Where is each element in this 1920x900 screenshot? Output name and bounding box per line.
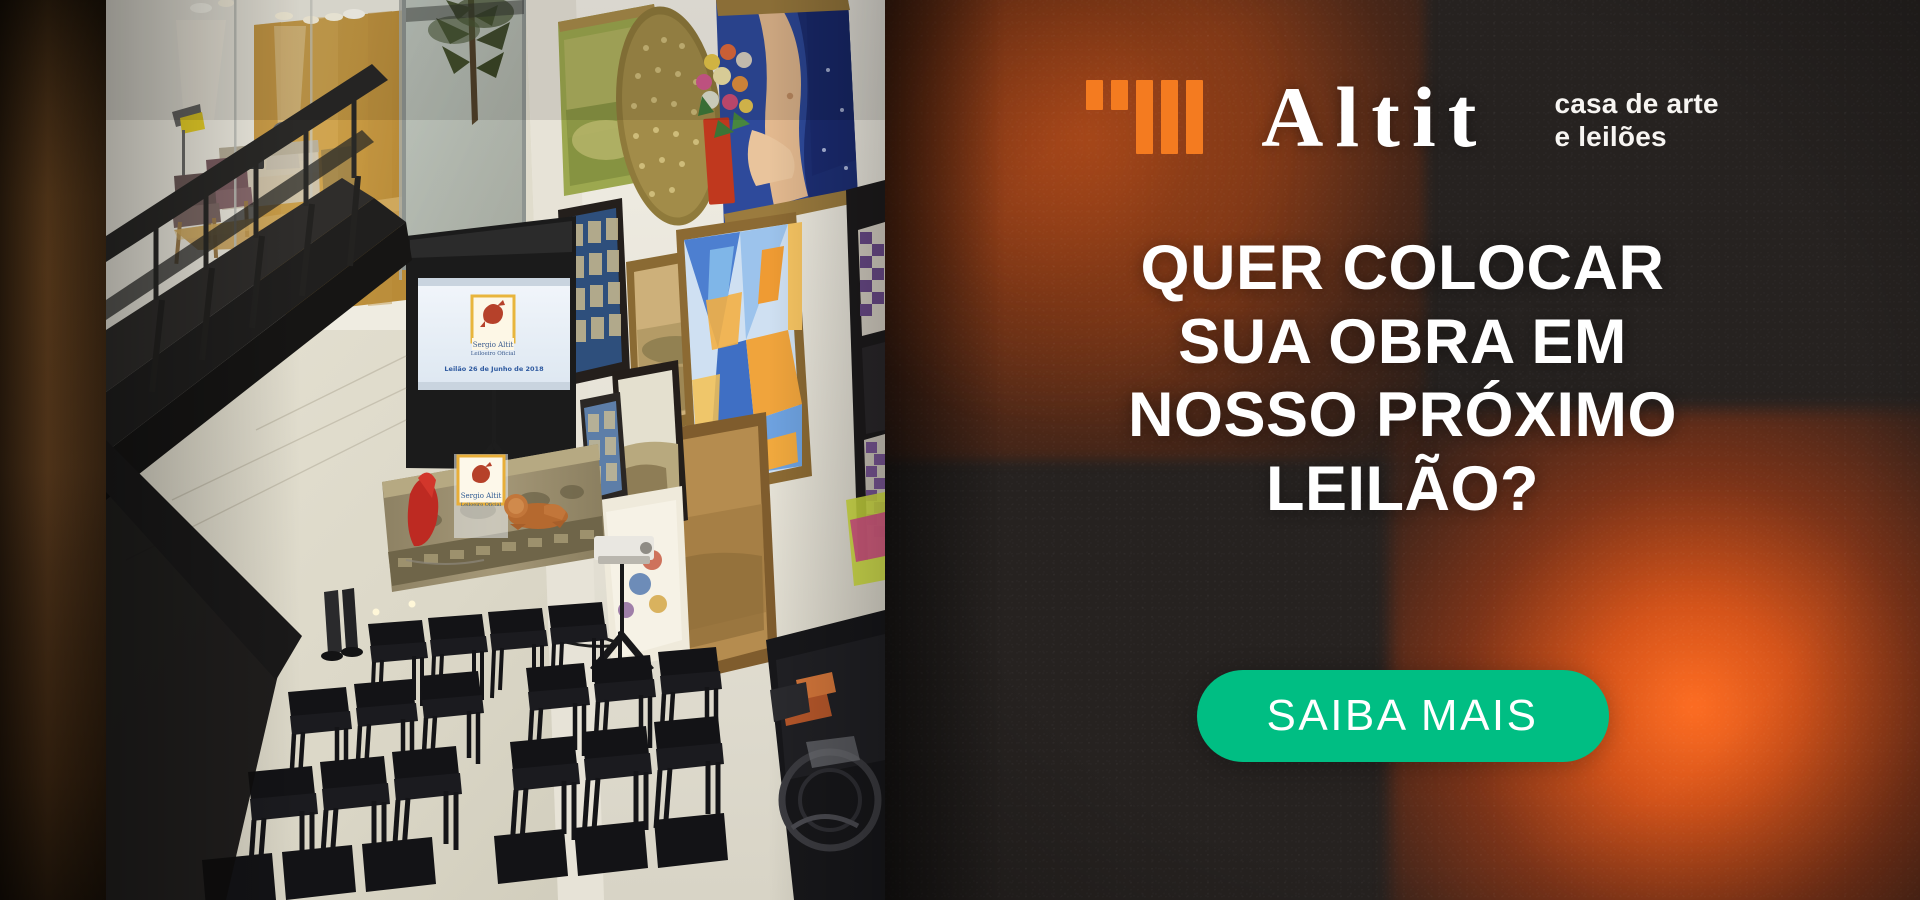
altit-bars-icon (1086, 80, 1203, 154)
saiba-mais-button[interactable]: SAIBA MAIS (1197, 670, 1609, 762)
promo-headline: QUER COLOCAR SUA OBRA EM NOSSO PRÓXIMO L… (885, 232, 1920, 527)
cta-container: SAIBA MAIS (885, 670, 1920, 762)
headline-line-4: LEILÃO? (885, 453, 1920, 527)
headline-line-2: SUA OBRA EM (885, 306, 1920, 380)
auction-room-illustration: Sergio Altit Leiloeiro Oficial Leilão 26… (106, 0, 885, 900)
photo-left-wall-strip (0, 0, 106, 900)
altit-promo-banner: Sergio Altit Leiloeiro Oficial Leilão 26… (0, 0, 1920, 900)
brand-tagline: casa de arte e leilões (1554, 87, 1718, 153)
promo-content-pane: Altit casa de arte e leilões QUER COLOCA… (885, 0, 1920, 900)
brand-wordmark: Altit (1261, 81, 1488, 153)
brand-logo[interactable]: Altit casa de arte e leilões (885, 80, 1920, 154)
headline-line-3: NOSSO PRÓXIMO (885, 379, 1920, 453)
headline-line-1: QUER COLOCAR (885, 232, 1920, 306)
auction-room-photo-pane: Sergio Altit Leiloeiro Oficial Leilão 26… (0, 0, 885, 900)
auction-room-photo: Sergio Altit Leiloeiro Oficial Leilão 26… (106, 0, 885, 900)
